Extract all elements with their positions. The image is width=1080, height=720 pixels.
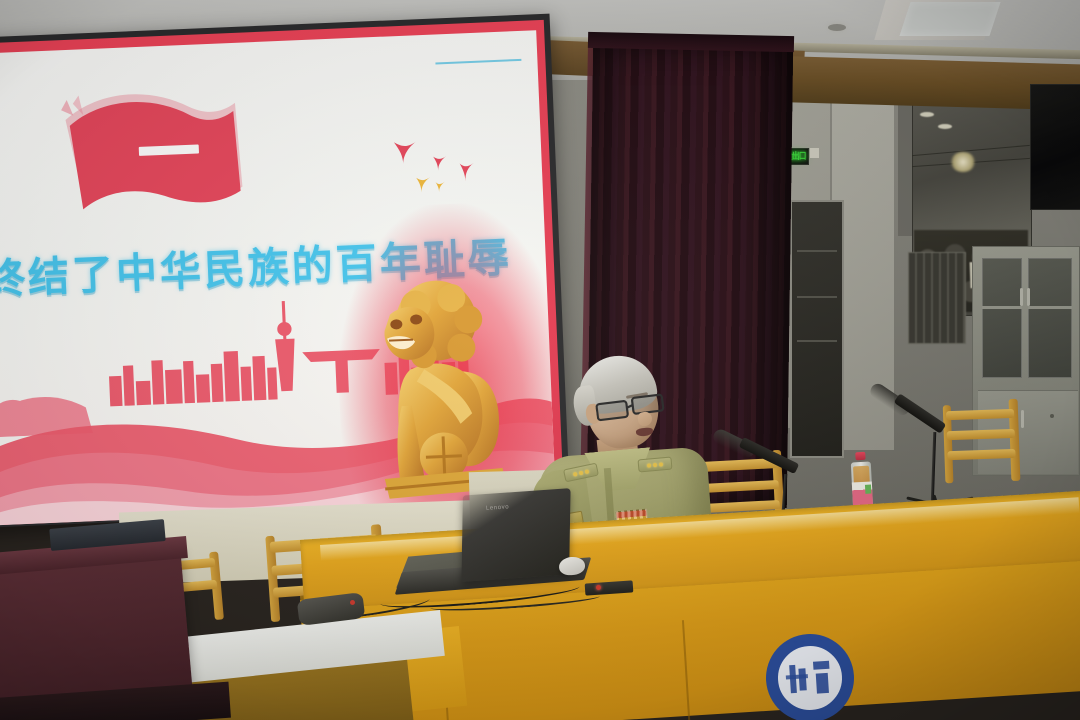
cabinet-lock-icon[interactable]	[1050, 414, 1054, 418]
conference-phone-indicator-icon	[350, 600, 355, 605]
slide-accent-line	[435, 59, 521, 65]
ceiling-light-icon	[899, 2, 1000, 36]
photo-scene: 安全出口	[0, 0, 1080, 720]
cabinet-shelf	[982, 306, 1022, 309]
ceiling-lamp-reflection-icon	[920, 112, 934, 117]
cabinet-shelf	[797, 250, 837, 252]
ceiling-lamp-reflection-icon	[938, 124, 952, 129]
mouth	[636, 427, 654, 437]
cabinet-shelf	[797, 340, 837, 342]
pendant-light-icon	[950, 152, 976, 172]
bottle-cap	[855, 452, 865, 461]
bookshelf-binders	[908, 252, 966, 344]
laptop[interactable]	[461, 488, 570, 582]
red-flag-icon	[38, 77, 274, 236]
guardian-lion-icon	[362, 261, 522, 502]
flying-birds-icon	[368, 110, 502, 215]
ceiling-spotlight-icon	[828, 24, 846, 31]
emergency-lamp-icon	[810, 148, 819, 158]
institution-emblem-icon: ⌁ ⌁ ⌁ ⌁ ⌁ ⌁	[759, 627, 861, 720]
cabinet-door[interactable]	[1028, 258, 1072, 378]
cabinet-handle-icon[interactable]	[1020, 288, 1023, 306]
cabinet-shelf	[1028, 306, 1072, 309]
power-indicator-icon	[596, 585, 601, 590]
slide-content: 终结了中华民族的百年耻辱	[0, 30, 556, 526]
cabinet-door[interactable]	[982, 258, 1022, 378]
wall-mounted-tv[interactable]	[1030, 84, 1080, 210]
bottle-label-accent	[865, 485, 871, 494]
rear-cabinet-door[interactable]	[790, 200, 844, 458]
projection-screen: 终结了中华民族的百年耻辱	[0, 14, 570, 529]
cabinet-handle-icon[interactable]	[1027, 288, 1030, 306]
cabinet-shelf	[797, 296, 837, 298]
